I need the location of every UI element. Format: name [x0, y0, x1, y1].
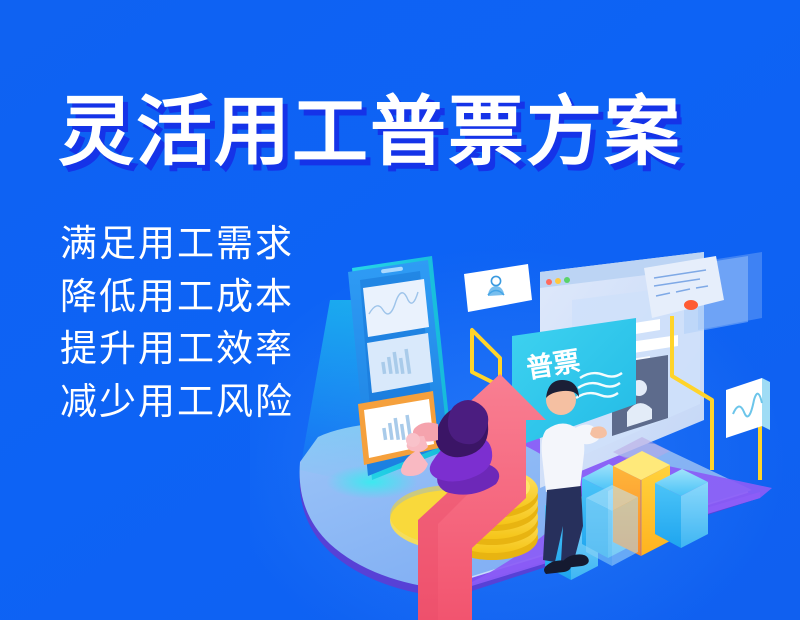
page-title: 灵活用工普票方案 [58, 95, 682, 171]
flexible-employment-banner: 普票 [0, 0, 800, 620]
benefit-list: 满足用工需求 降低用工成本 提升用工效率 减少用工风险 [60, 218, 294, 428]
window-maximize-dot [564, 277, 570, 283]
bar-4 [655, 469, 708, 548]
benefit-item-3: 提升用工效率 [60, 323, 294, 376]
window-close-dot [546, 279, 552, 285]
benefit-item-4: 减少用工风险 [60, 376, 294, 429]
mini-line-chart-card[interactable] [726, 378, 770, 480]
smartphone[interactable] [348, 256, 452, 480]
benefit-item-2: 降低用工成本 [60, 271, 294, 324]
benefit-item-1: 满足用工需求 [60, 218, 294, 271]
card-status-dot [684, 300, 698, 310]
window-minimize-dot [555, 278, 561, 284]
phone-card-line-chart [363, 279, 429, 337]
bar-5 [586, 485, 638, 566]
